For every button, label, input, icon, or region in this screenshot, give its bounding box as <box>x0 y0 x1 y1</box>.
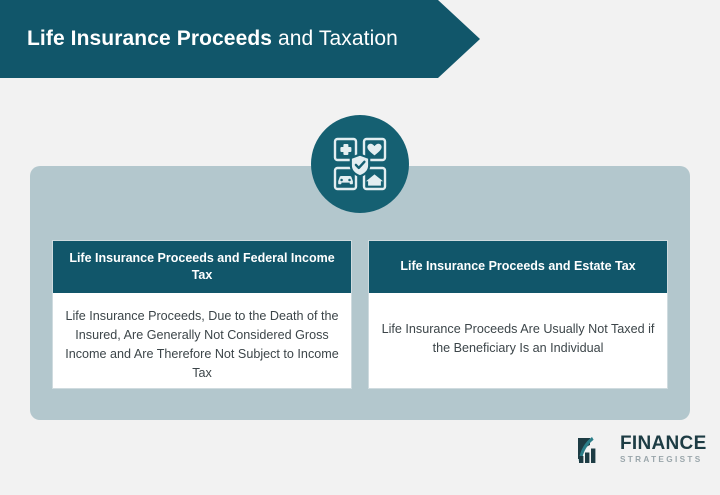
logo-tagline: STRATEGISTS <box>620 456 707 464</box>
header-banner: Life Insurance Proceeds and Taxation <box>0 0 480 78</box>
logo-name: FINANCE <box>620 434 707 453</box>
finance-strategists-logo: FINANCE STRATEGISTS <box>576 433 707 465</box>
page-title: Life Insurance Proceeds and Taxation <box>27 26 398 52</box>
card-heading: Life Insurance Proceeds and Federal Inco… <box>53 241 351 293</box>
page-title-strong: Life Insurance Proceeds <box>27 27 272 50</box>
shield-check-icon <box>351 155 369 177</box>
bar-chart-swoosh-icon <box>576 433 614 465</box>
heart-icon <box>367 144 381 156</box>
card-body-text: Life Insurance Proceeds Are Usually Not … <box>369 293 667 388</box>
medical-cross-icon <box>340 144 351 155</box>
card-estate-tax: Life Insurance Proceeds and Estate Tax L… <box>368 240 668 389</box>
card-row: Life Insurance Proceeds and Federal Inco… <box>52 240 668 389</box>
card-body-text: Life Insurance Proceeds, Due to the Deat… <box>53 293 351 389</box>
car-icon <box>338 176 353 184</box>
card-heading: Life Insurance Proceeds and Estate Tax <box>369 241 667 293</box>
insurance-grid-shield-icon <box>311 115 409 213</box>
card-federal-income-tax: Life Insurance Proceeds and Federal Inco… <box>52 240 352 389</box>
house-icon <box>366 174 383 185</box>
page-title-light: and Taxation <box>272 27 398 50</box>
